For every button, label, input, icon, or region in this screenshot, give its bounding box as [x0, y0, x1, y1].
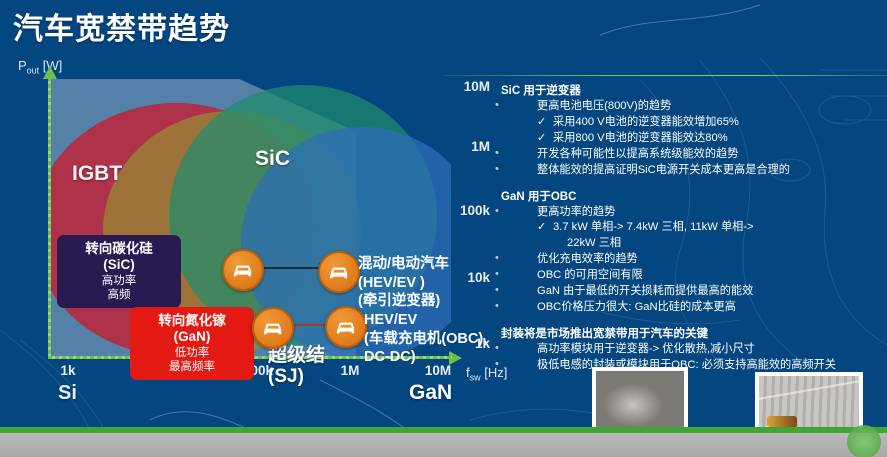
y-tick-1M: 1M [446, 139, 490, 154]
annotation-obc-line1: HEV/EV [364, 311, 487, 330]
footer-grey-bar [0, 433, 887, 457]
callout-shift-to-gan: 转向氮化镓 (GaN) 低功率 最高频率 [130, 307, 254, 380]
marker-car-traction-end [318, 251, 360, 293]
annotation-hev-line3: (牵引逆变器) [358, 292, 449, 311]
marker-car-obc-start [252, 307, 294, 349]
annotation-hev-obc-dcdc: HEV/EV (车载充电机(OBC), DC-DC) [364, 311, 487, 367]
marker-car-traction-start [222, 249, 264, 291]
x-tick-1k: 1k [60, 363, 75, 378]
panel-item: 开发各种可能性以提高系统级能效的趋势 [487, 147, 885, 163]
region-label-sj-line2: (SJ) [268, 366, 325, 387]
arrow-obc-shift-icon [288, 324, 328, 326]
region-label-igbt: IGBT [72, 162, 122, 186]
y-tick-10k: 10k [446, 270, 490, 285]
arrow-traction-shift-icon [258, 267, 320, 269]
page-title: 汽车宽禁带趋势 [13, 4, 230, 48]
callout-sic-line1: 高功率 [67, 274, 171, 288]
panel-item: 更高功率的趋势 [487, 205, 885, 221]
callout-shift-to-sic: 转向碳化硅 (SiC) 高功率 高频 [57, 235, 181, 308]
annotation-hev-line1: 混动/电动汽车 [358, 255, 449, 274]
panel-heading-packaging: 封装将是市场推出宽禁带用于汽车的关键 [501, 325, 885, 341]
region-label-gan: GaN [409, 381, 452, 405]
panel-item: OBC价格压力很大: GaN比硅的成本更高 [487, 300, 885, 316]
panel-item: 采用400 V电池的逆变器能效增加65% [487, 115, 885, 131]
panel-item: 高功率模块用于逆变器-> 优化散热,减小尺寸 [487, 342, 885, 358]
annotation-hev-traction-inverter: 混动/电动汽车 (HEV/EV ) (牵引逆变器) [358, 255, 449, 311]
panel-item: 更高电池电压(800V)的趋势 [487, 99, 885, 115]
car-icon [230, 257, 256, 283]
region-label-superjunction: 超级结 (SJ) [268, 345, 325, 388]
annotation-obc-line2: (车载充电机(OBC), [364, 330, 487, 349]
marker-car-obc-end [325, 306, 367, 348]
annotation-obc-line3: DC-DC) [364, 348, 487, 367]
callout-sic-heading: 转向碳化硅 [67, 241, 171, 257]
callout-sic-sub: (SiC) [67, 257, 171, 273]
panel-item: OBC 的可用空间有限 [487, 268, 885, 284]
panel-spacer [487, 316, 885, 325]
car-icon [326, 259, 352, 285]
region-label-si: Si [58, 382, 77, 405]
x-axis-label-sub: sw [470, 373, 481, 383]
panel-item: 22kW 三相 [487, 236, 885, 252]
car-icon [333, 314, 359, 340]
callout-gan-line2: 最高频率 [140, 360, 244, 374]
callout-gan-sub: (GaN) [140, 329, 244, 345]
footer-green-dot-icon [847, 425, 881, 457]
y-axis-label-main: P [18, 58, 27, 73]
x-tick-1M: 1M [341, 363, 360, 378]
panel-item: 3.7 kW 单相-> 7.4kW 三相, 11kW 单相-> [487, 220, 885, 236]
panel-item: 整体能效的提高证明SiC电源开关成本更高是合理的 [487, 163, 885, 179]
callout-gan-heading: 转向氮化镓 [140, 313, 244, 329]
y-axis-label-sub: out [27, 66, 40, 76]
panel-spacer [487, 179, 885, 188]
panel-heading-sic: SiC 用于逆变器 [501, 82, 885, 98]
annotation-hev-line2: (HEV/EV ) [358, 274, 449, 293]
y-tick-10M: 10M [446, 79, 490, 94]
panel-item: 采用800 V电池的逆变器能效达80% [487, 131, 885, 147]
panel-divider-rule [443, 75, 887, 76]
panel-item: GaN 由于最低的开关损耗而提供最高的能效 [487, 284, 885, 300]
power-frequency-chart: Pout [W] fsw [Hz] 10M 1M 100k 10k 1k 1k … [0, 55, 490, 385]
panel-item: 优化充电效率的趋势 [487, 252, 885, 268]
car-icon [260, 315, 286, 341]
region-label-sic: SiC [255, 147, 290, 171]
y-tick-100k: 100k [446, 203, 490, 218]
slide-root: 汽车宽禁带趋势 Pout [W] fsw [Hz] 10M 1M 100k 10… [0, 0, 887, 457]
callout-sic-line2: 高频 [67, 288, 171, 302]
panel-heading-gan: GaN 用于OBC [501, 188, 885, 204]
bullet-panel: SiC 用于逆变器 更高电池电压(800V)的趋势 采用400 V电池的逆变器能… [487, 82, 885, 352]
callout-gan-line1: 低功率 [140, 346, 244, 360]
